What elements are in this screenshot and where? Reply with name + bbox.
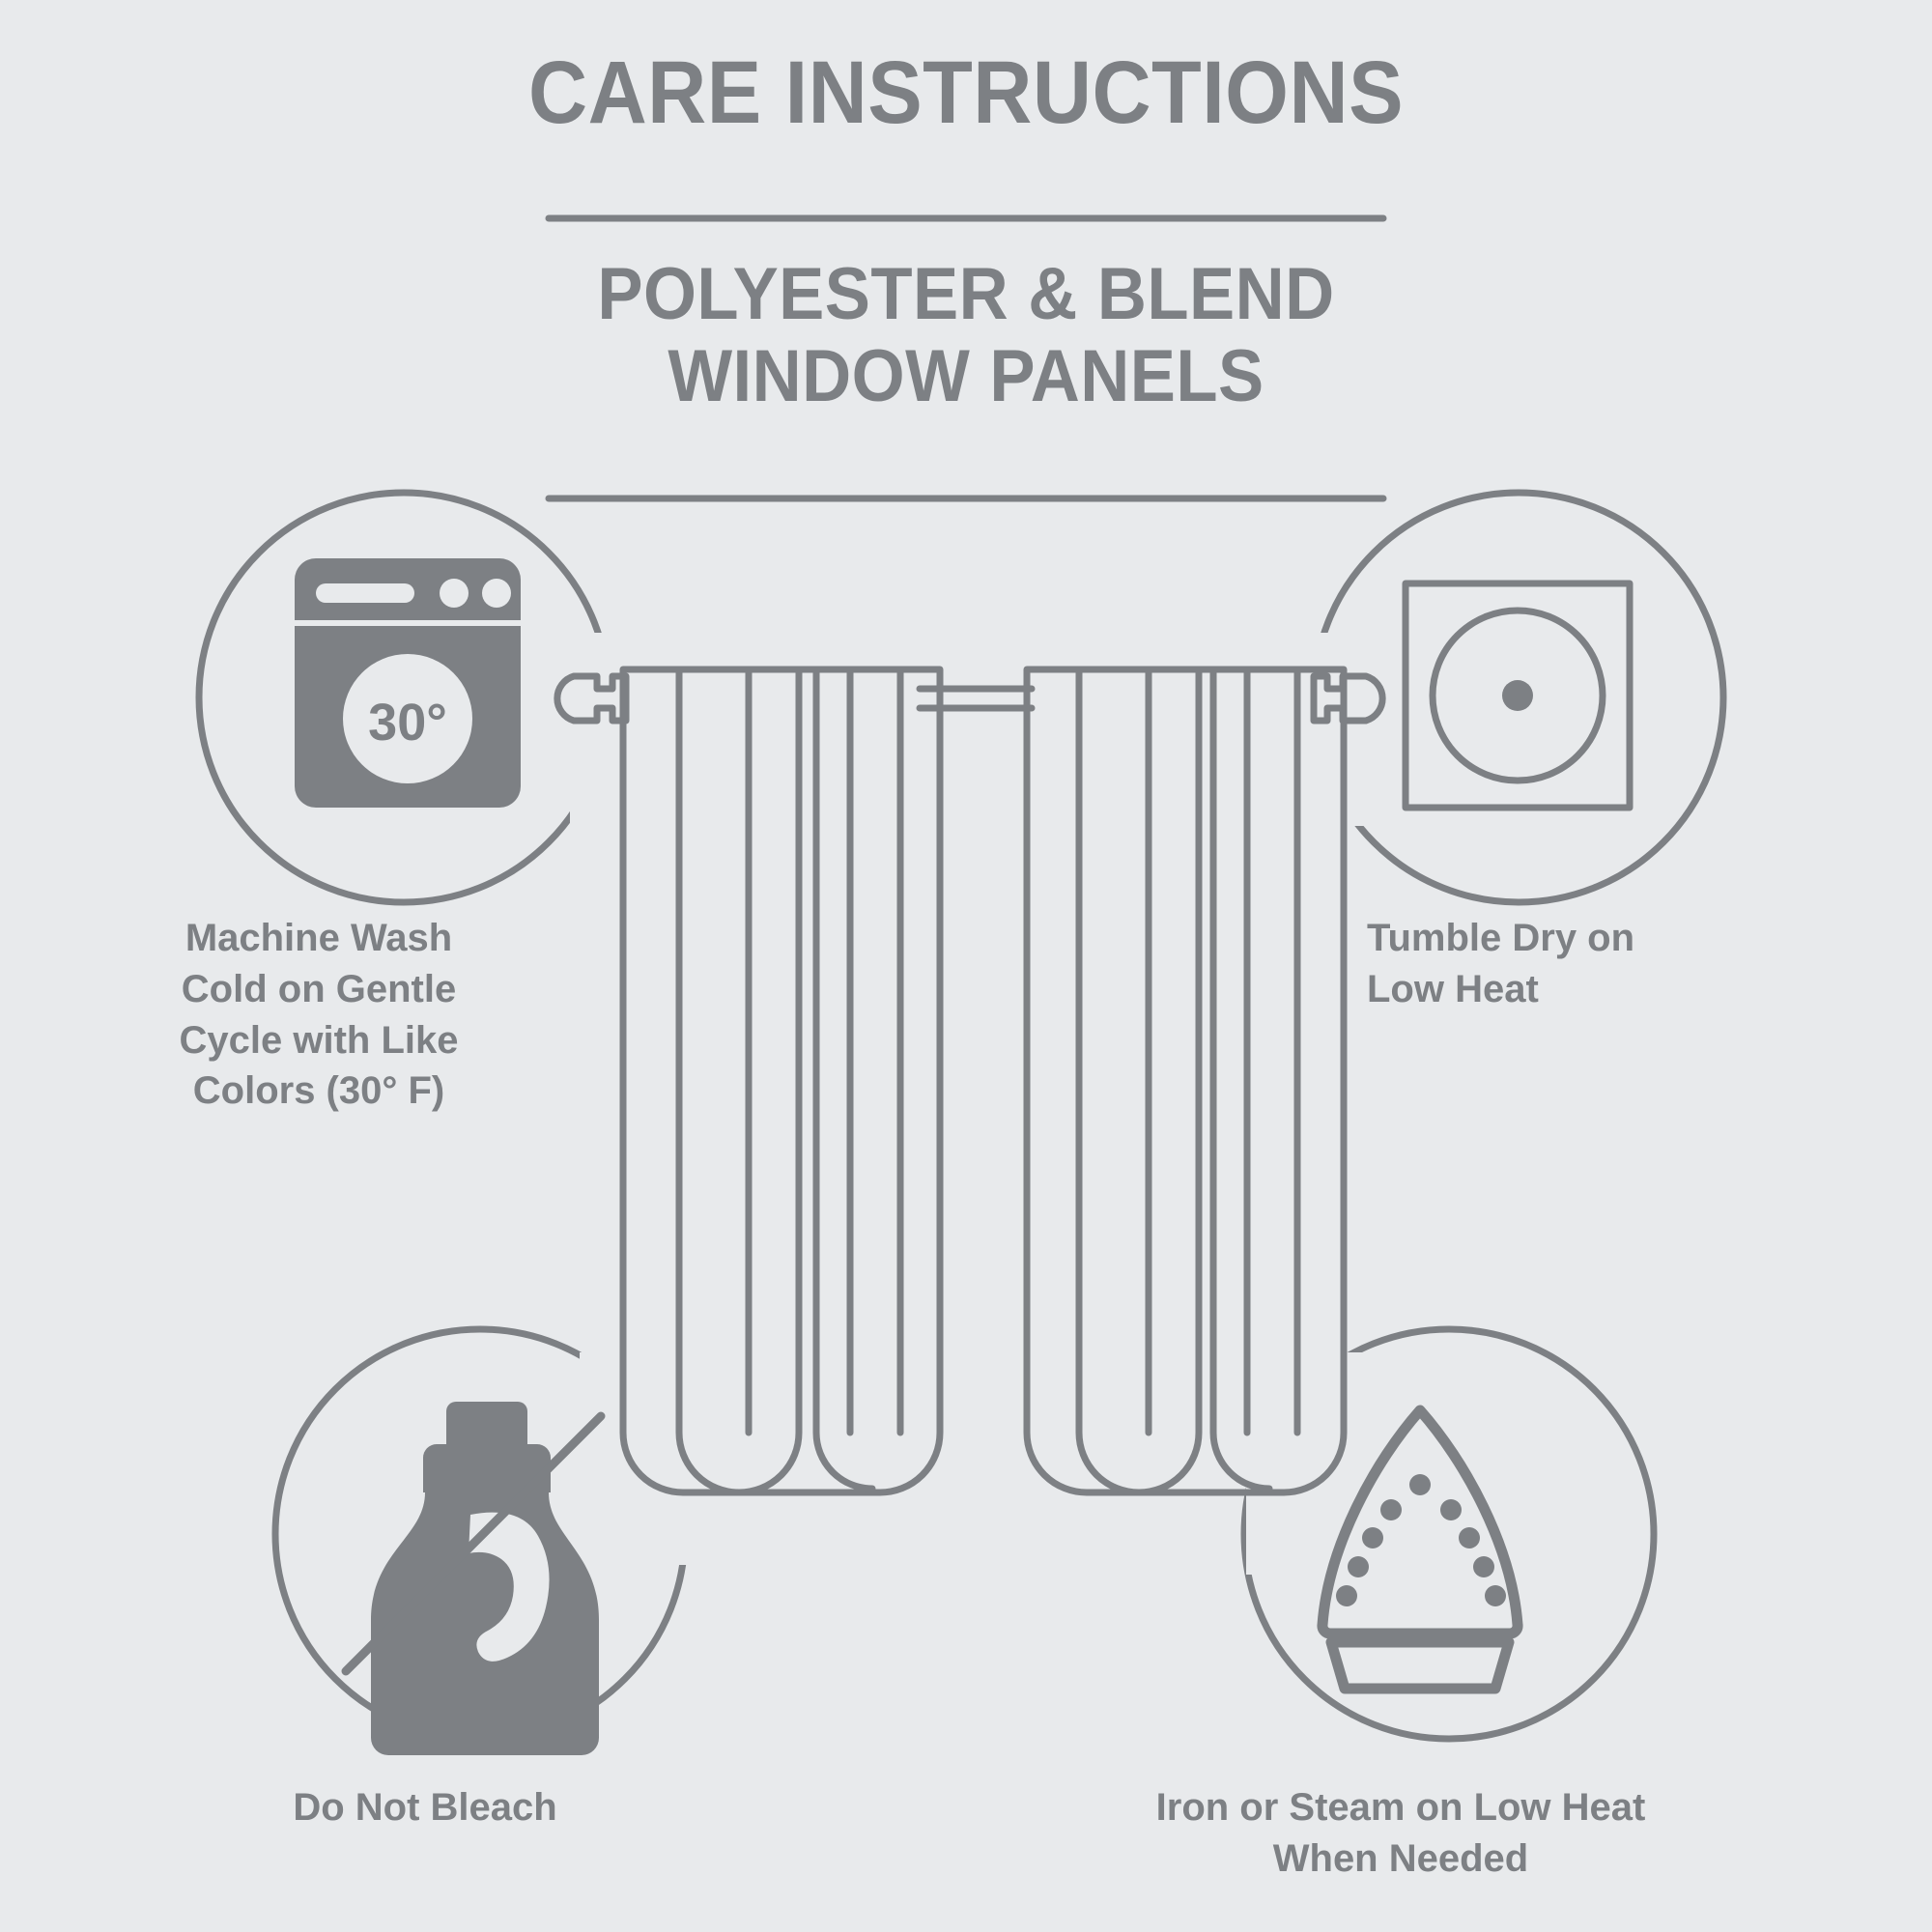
dry-caption: Tumble Dry on Low Heat: [1367, 913, 1908, 1015]
tumble-dry-low-icon: [1406, 583, 1630, 808]
iron-caption: Iron or Steam on Low Heat When Needed: [1043, 1782, 1758, 1885]
wash-caption: Machine Wash Cold on Gentle Cycle with L…: [68, 913, 570, 1117]
rod-finial-right: [1314, 676, 1382, 721]
subtitle-line-1: POLYESTER & BLEND: [597, 253, 1334, 335]
page-title: CARE INSTRUCTIONS: [77, 46, 1855, 140]
no-bleach-icon: [346, 1402, 601, 1755]
rod-finial-left: [557, 676, 626, 721]
curtain-panel-right: [1027, 669, 1344, 1492]
curtain-panel-left: [623, 669, 940, 1492]
washing-machine-icon: [295, 558, 521, 808]
subtitle-line-2: WINDOW PANELS: [68, 335, 1864, 417]
iron-badge-ring: [1244, 1329, 1654, 1739]
wash-temperature-label: 30°: [368, 694, 447, 752]
bleach-caption: Do Not Bleach: [135, 1782, 715, 1833]
care-instructions-card: 30° CARE INSTRUCTIONS POLYESTER & BLEND …: [0, 0, 1932, 1932]
iron-steam-icon: [1322, 1410, 1518, 1689]
page-subtitle: POLYESTER & BLEND WINDOW PANELS: [68, 253, 1864, 417]
